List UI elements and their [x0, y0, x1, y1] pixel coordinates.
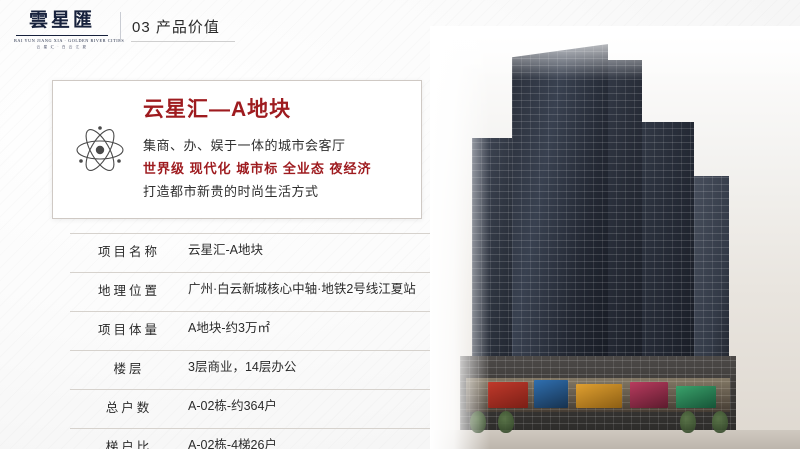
- image-fade-left: [430, 26, 490, 449]
- table-row-label: 项目名称: [70, 238, 188, 260]
- logo-chinese-name: 雲星匯: [14, 10, 110, 32]
- building-rendering-image: [430, 26, 800, 449]
- table-row: 总户数 A-02栋-约364户: [70, 390, 430, 429]
- brand-logo: 雲星匯 BAI YUN JIANG XIA · GOLDEN RIVER CIT…: [14, 10, 110, 50]
- card-line-3: 打造都市新贵的时尚生活方式: [143, 180, 411, 203]
- billboard-2: [534, 380, 568, 408]
- project-highlight-card: 云星汇—A地块 集商、办、娱于一体的城市会客厅 世界级 现代化 城市标 全业态 …: [52, 80, 422, 219]
- card-line-1: 集商、办、娱于一体的城市会客厅: [143, 134, 411, 157]
- header-vertical-divider: [120, 12, 121, 42]
- table-row-label: 楼层: [70, 355, 188, 377]
- logo-divider: [16, 35, 108, 36]
- atom-icon: [73, 123, 127, 177]
- billboard-1: [488, 382, 528, 408]
- table-row-label: 项目体量: [70, 316, 188, 338]
- page-title: 03 产品价值: [132, 16, 220, 37]
- tower-main: [512, 44, 608, 374]
- image-fade-top: [430, 26, 800, 80]
- table-row-value: A-02栋-约364户: [188, 394, 430, 416]
- project-info-table: 项目名称 云星汇-A地块 地理位置 广州·白云新城核心中轴·地铁2号线江夏站 项…: [70, 233, 430, 449]
- table-row: 楼层 3层商业，14层办公: [70, 351, 430, 390]
- tower-right: [636, 122, 694, 374]
- table-row-value: 3层商业，14层办公: [188, 355, 430, 377]
- table-row: 地理位置 广州·白云新城核心中轴·地铁2号线江夏站: [70, 273, 430, 312]
- table-row: 项目体量 A地块-约3万㎡: [70, 312, 430, 351]
- table-row-value: 云星汇-A地块: [188, 238, 430, 260]
- card-text-block: 云星汇—A地块 集商、办、娱于一体的城市会客厅 世界级 现代化 城市标 全业态 …: [143, 93, 411, 203]
- street-tree: [680, 411, 696, 433]
- table-row-value: A-02栋-4梯26户: [188, 433, 430, 449]
- table-row-label: 梯户比: [70, 433, 188, 449]
- billboard-5: [676, 386, 716, 408]
- card-title: 云星汇—A地块: [143, 93, 411, 123]
- table-row-value: A地块-约3万㎡: [188, 316, 430, 338]
- table-row-label: 总户数: [70, 394, 188, 416]
- page-title-underline: [131, 41, 235, 42]
- logo-english-name: BAI YUN JIANG XIA · GOLDEN RIVER CITIES: [14, 38, 110, 44]
- table-row-value: 广州·白云新城核心中轴·地铁2号线江夏站: [188, 277, 430, 299]
- slide: 雲星匯 BAI YUN JIANG XIA · GOLDEN RIVER CIT…: [0, 0, 800, 449]
- logo-subtitle: 云 星 汇 · 白 云 江 夏: [14, 45, 110, 50]
- street-tree: [712, 411, 728, 433]
- card-line-2-highlight: 世界级 现代化 城市标 全业态 夜经济: [143, 157, 411, 180]
- table-row: 项目名称 云星汇-A地块: [70, 233, 430, 273]
- street-tree: [498, 411, 514, 433]
- table-row-label: 地理位置: [70, 277, 188, 299]
- billboard-3: [576, 384, 622, 408]
- table-row: 梯户比 A-02栋-4梯26户: [70, 429, 430, 449]
- billboard-4: [630, 382, 668, 408]
